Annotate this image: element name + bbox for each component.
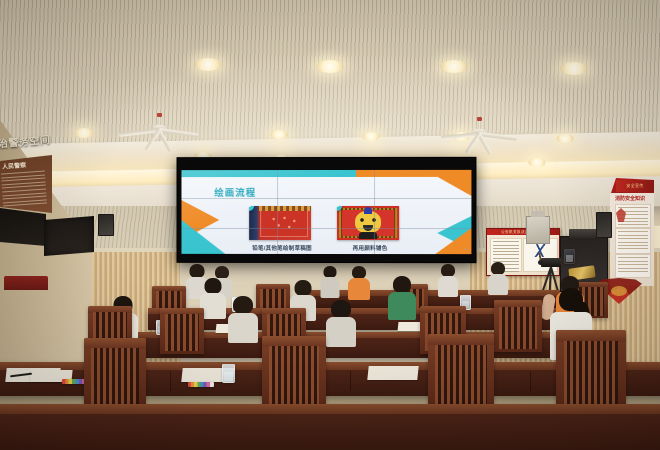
desk-divider	[530, 371, 531, 391]
slide-step-1-caption: 铅笔/其他笔绘制草稿图	[249, 244, 315, 252]
ceiling-fan-right	[478, 120, 480, 122]
slide-step-2-image: 2	[337, 206, 399, 240]
chair-slats	[269, 346, 319, 405]
torso	[320, 277, 339, 298]
downlight-inner-10	[528, 158, 546, 167]
downlight-outer-4	[560, 62, 588, 75]
desk-top	[0, 404, 660, 414]
slide-title: 绘画流程	[214, 185, 256, 199]
student-far-3	[320, 266, 339, 298]
left-wall-dark-panel-far	[0, 208, 46, 246]
safety-board-block-2	[615, 228, 651, 254]
chair-row2-2[interactable]	[160, 308, 204, 354]
left-red-seat	[4, 276, 48, 290]
downlight-outer-2	[316, 60, 344, 73]
chair-row1-3[interactable]	[428, 334, 494, 410]
downlight-inner-5	[362, 132, 380, 141]
chair-slats	[165, 314, 199, 351]
video-wall-display[interactable]: 绘画流程 1 铅笔/其他笔绘制草稿图	[177, 157, 477, 263]
left-wall-dark-panel-near	[44, 216, 94, 256]
chair-row1-2[interactable]	[262, 336, 326, 410]
chair-top-rail	[556, 330, 626, 342]
chair-slats	[435, 345, 487, 406]
student-mid-3-green	[388, 276, 416, 320]
chair-row1-1[interactable]	[84, 338, 146, 408]
slide-step-2-caption: 再用颜料铺色	[337, 244, 403, 252]
downlight-inner-3	[270, 130, 288, 139]
chair-row1-4[interactable]	[556, 330, 626, 410]
paper-sheet-row1-d	[367, 366, 418, 380]
chair-slats	[499, 307, 536, 349]
slide-triangle-orange-topright	[425, 170, 471, 196]
presentation-slide: 绘画流程 1 铅笔/其他笔绘制草稿图	[181, 170, 471, 254]
student-far-5	[438, 264, 458, 296]
rack-top-unit	[569, 229, 599, 238]
screen-corner-mark: ▪▪	[464, 246, 467, 251]
desk-divider	[170, 371, 171, 391]
head	[295, 280, 312, 296]
chair-slats	[91, 348, 139, 404]
safety-board-caption: 安全宣传	[616, 180, 654, 192]
chair-slats	[564, 341, 619, 405]
classroom-scene: 治警务空间 人民警察 绘画流程 1 铅	[0, 0, 660, 450]
wall-speaker-left	[98, 214, 114, 236]
head	[190, 264, 205, 278]
desk-row-0-foreground	[0, 404, 660, 450]
panel-seam-horizontal-1	[181, 198, 471, 199]
torso	[488, 274, 508, 295]
slide-step-2: 2 再用颜料铺色	[337, 206, 403, 252]
watercolor-palette-row1-b	[188, 382, 214, 387]
torso	[228, 313, 258, 343]
torso	[438, 276, 458, 297]
downlight-inner-9	[556, 134, 574, 143]
projector-unit	[526, 216, 550, 244]
sketch-top-strip	[259, 206, 311, 211]
student-far-4-orange	[348, 266, 370, 300]
video-wall-screen[interactable]: 绘画流程 1 铅笔/其他笔绘制草稿图	[181, 170, 471, 254]
ceiling-outer	[0, 0, 660, 150]
head	[205, 278, 222, 294]
downlight-inner-1	[74, 128, 94, 138]
downlight-outer-1	[194, 58, 222, 71]
camera-body-icon	[541, 258, 561, 267]
safety-board-block-3	[615, 254, 651, 278]
opera-mask-face-icon	[355, 211, 381, 233]
torso	[388, 292, 416, 320]
desk-divider	[350, 371, 351, 391]
head	[331, 300, 351, 318]
chair-row2-5[interactable]	[494, 300, 542, 352]
head	[393, 276, 411, 293]
panel-seam-vertical-1	[277, 170, 278, 254]
water-glass-row1-a	[222, 364, 235, 383]
student-near-boy	[228, 296, 258, 342]
torso	[348, 278, 370, 300]
wall-speaker-right	[596, 212, 612, 238]
torso	[326, 317, 356, 347]
slide-step-1-image: 1	[249, 206, 311, 240]
head	[233, 296, 253, 314]
student-near-center	[326, 300, 356, 346]
safety-display-board: 安全宣传 消防安全知识	[610, 178, 654, 286]
left-wall-sign-text-lines	[1, 171, 47, 208]
slide-top-bar-teal	[181, 170, 356, 177]
panel-seam-horizontal-2	[181, 228, 471, 229]
safety-board-title: 消防安全知识	[615, 195, 651, 202]
ceiling-fan-left	[158, 116, 160, 118]
desk-front	[0, 414, 660, 450]
panel-seam-vertical-2	[374, 170, 375, 254]
student-far-6	[488, 262, 508, 294]
downlight-outer-3	[440, 60, 468, 73]
slide-step-1-badge: 1	[249, 206, 254, 211]
